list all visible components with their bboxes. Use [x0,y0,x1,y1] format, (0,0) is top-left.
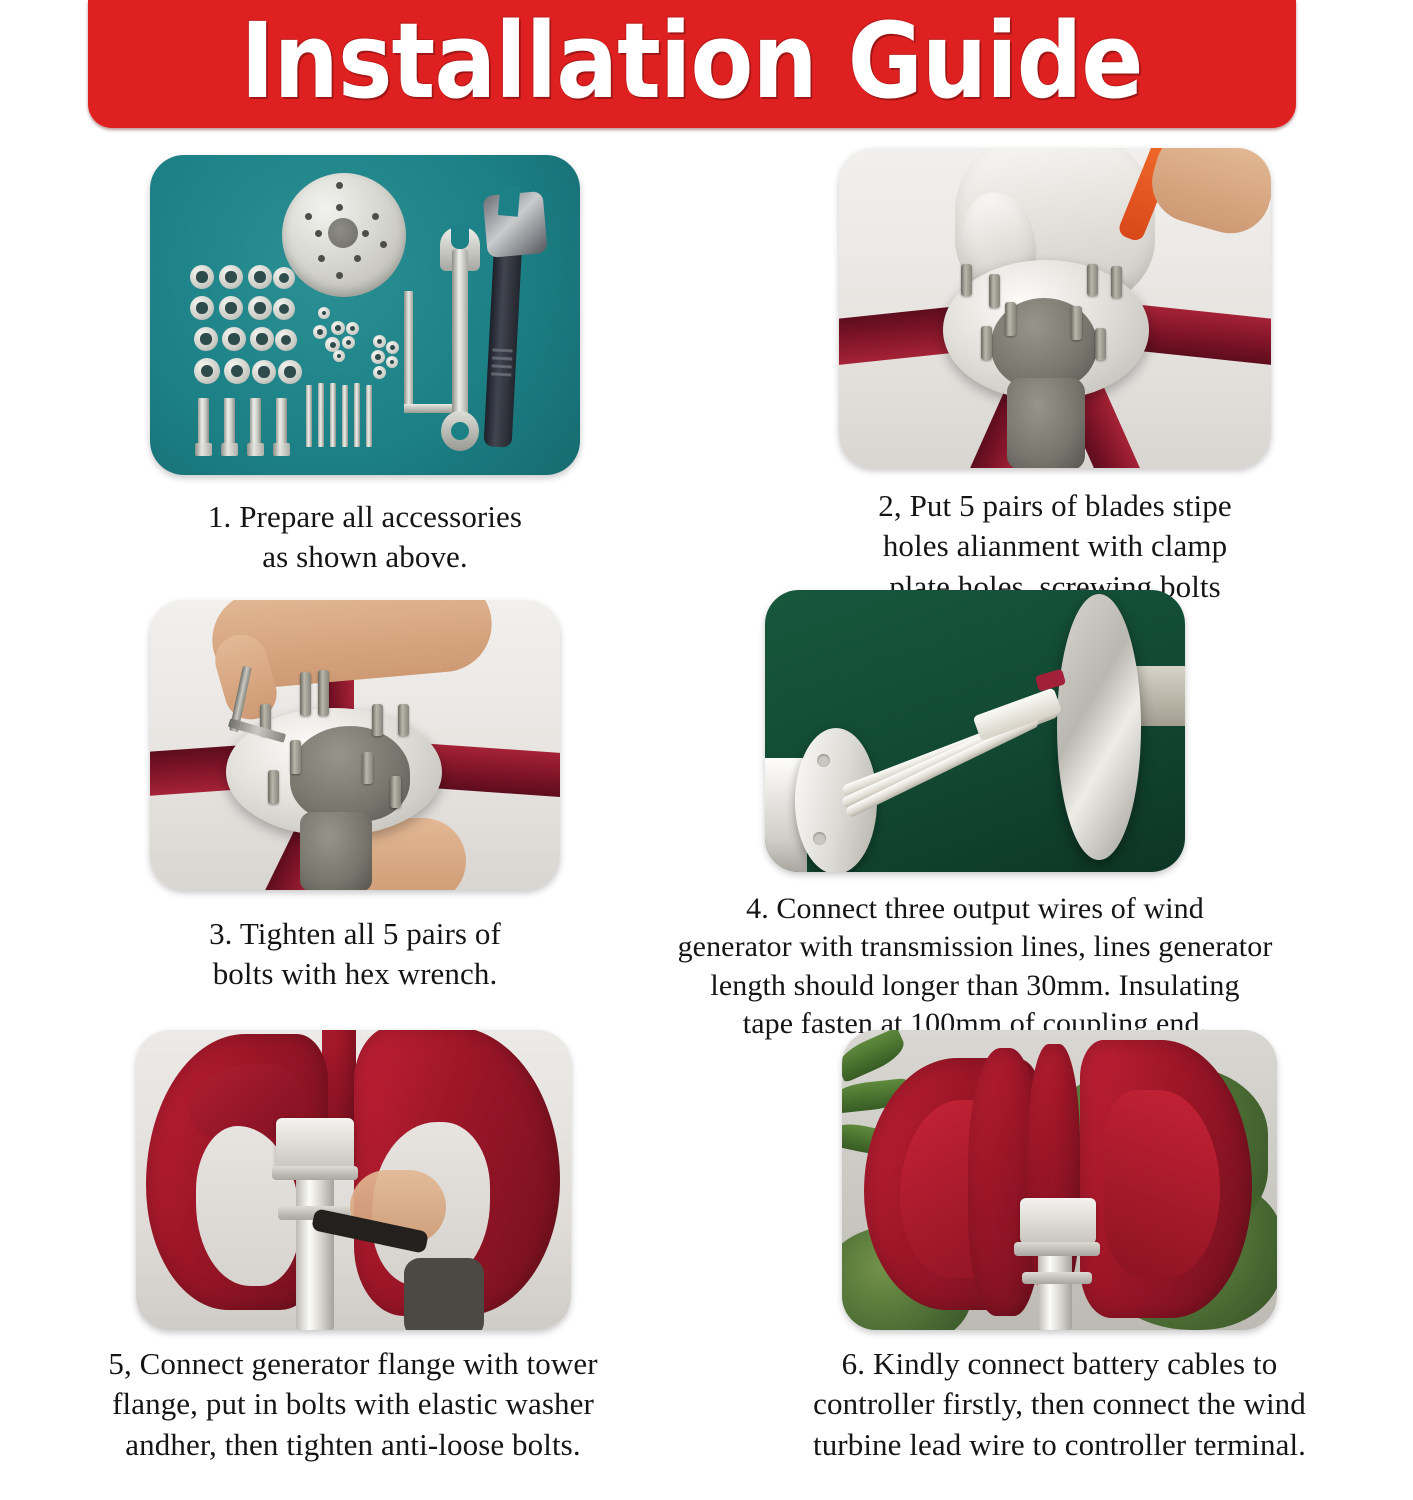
hex-wrench [228,666,298,766]
bolt-stud [362,752,373,784]
step-6: 6. Kindly connect battery cables to cont… [706,1030,1413,1465]
shaft-collar [1007,378,1085,468]
step-4-caption-line-3: length should longer than 30mm. Insulati… [540,967,1410,1005]
step-1-caption-line-2: as shown above. [135,537,595,577]
bolt-stud [1095,328,1106,360]
bolt-stud [390,776,401,808]
bolt-stud [300,672,311,716]
step-2-caption: 2, Put 5 pairs of blades stipe holes ali… [820,486,1290,607]
coupling-ring [272,1166,358,1180]
step-3: 3. Tighten all 5 pairs of bolts with hex… [120,600,590,995]
page-title: Installation Guide [241,9,1143,119]
bolt-stud [1071,306,1082,340]
plate-center-hub [328,218,358,248]
bolt-stud [398,704,409,736]
coupling-ring [1022,1272,1092,1284]
shaft-collar [300,812,372,890]
step-6-caption-line-3: turbine lead wire to controller terminal… [706,1425,1413,1465]
blade-clamp-alignment-photo [839,148,1271,468]
bolt-stud [268,770,279,804]
step-5-caption-line-3: andher, then tighten anti-loose bolts. [0,1425,706,1465]
step-6-caption-line-1: 6. Kindly connect battery cables to [706,1344,1413,1384]
step-6-caption: 6. Kindly connect battery cables to cont… [706,1344,1413,1465]
tighten-bolts-photo [150,600,560,890]
generator-flange [1057,594,1141,860]
bolt-stud [1087,264,1098,296]
step-1-caption: 1. Prepare all accessories as shown abov… [135,497,595,578]
step-2-caption-line-1: 2, Put 5 pairs of blades stipe [820,486,1290,526]
bolt-stud [372,704,383,736]
combination-wrench [438,227,482,451]
step-6-caption-line-2: controller firstly, then connect the win… [706,1384,1413,1424]
step-5-caption-line-2: flange, put in bolts with elastic washer [0,1384,706,1424]
step-2: 2, Put 5 pairs of blades stipe holes ali… [820,148,1290,607]
step-2-caption-line-2: holes alianment with clamp [820,526,1290,566]
step-4: 4. Connect three output wires of wind ge… [540,590,1410,1044]
clamp-plate [282,173,406,297]
coupling-ring [1014,1242,1100,1256]
bolt-stud [1111,266,1122,298]
installed-turbine-photo [842,1030,1277,1330]
bolt-stud [318,670,329,716]
generator-coupling [276,1118,354,1170]
step-4-caption-line-2: generator with transmission lines, lines… [540,928,1410,966]
step-3-caption-line-1: 3. Tighten all 5 pairs of [120,914,590,954]
bolt-stud [989,274,1000,308]
bolt-stud [981,326,992,360]
installation-guide-banner: Installation Guide [88,0,1296,128]
step-5: 5, Connect generator flange with tower f… [0,1030,706,1465]
step-5-caption-line-1: 5, Connect generator flange with tower [0,1344,706,1384]
bolt-stud [1005,302,1016,336]
step-3-caption: 3. Tighten all 5 pairs of bolts with hex… [120,914,590,995]
generator-housing [1020,1198,1096,1244]
step-1-caption-line-1: 1. Prepare all accessories [135,497,595,537]
steps-grid: 1. Prepare all accessories as shown abov… [0,128,1413,1500]
bolt-stud [961,264,972,296]
step-4-caption-line-1: 4. Connect three output wires of wind [540,890,1410,928]
step-5-caption: 5, Connect generator flange with tower f… [0,1344,706,1465]
sleeve [404,1258,484,1330]
step-3-caption-line-2: bolts with hex wrench. [120,954,590,994]
step-4-caption: 4. Connect three output wires of wind ge… [540,890,1410,1044]
wire-connection-photo [765,590,1185,872]
step-1: 1. Prepare all accessories as shown abov… [135,155,595,578]
flange-assembly-photo [136,1030,571,1330]
accessories-kit-photo [150,155,580,475]
